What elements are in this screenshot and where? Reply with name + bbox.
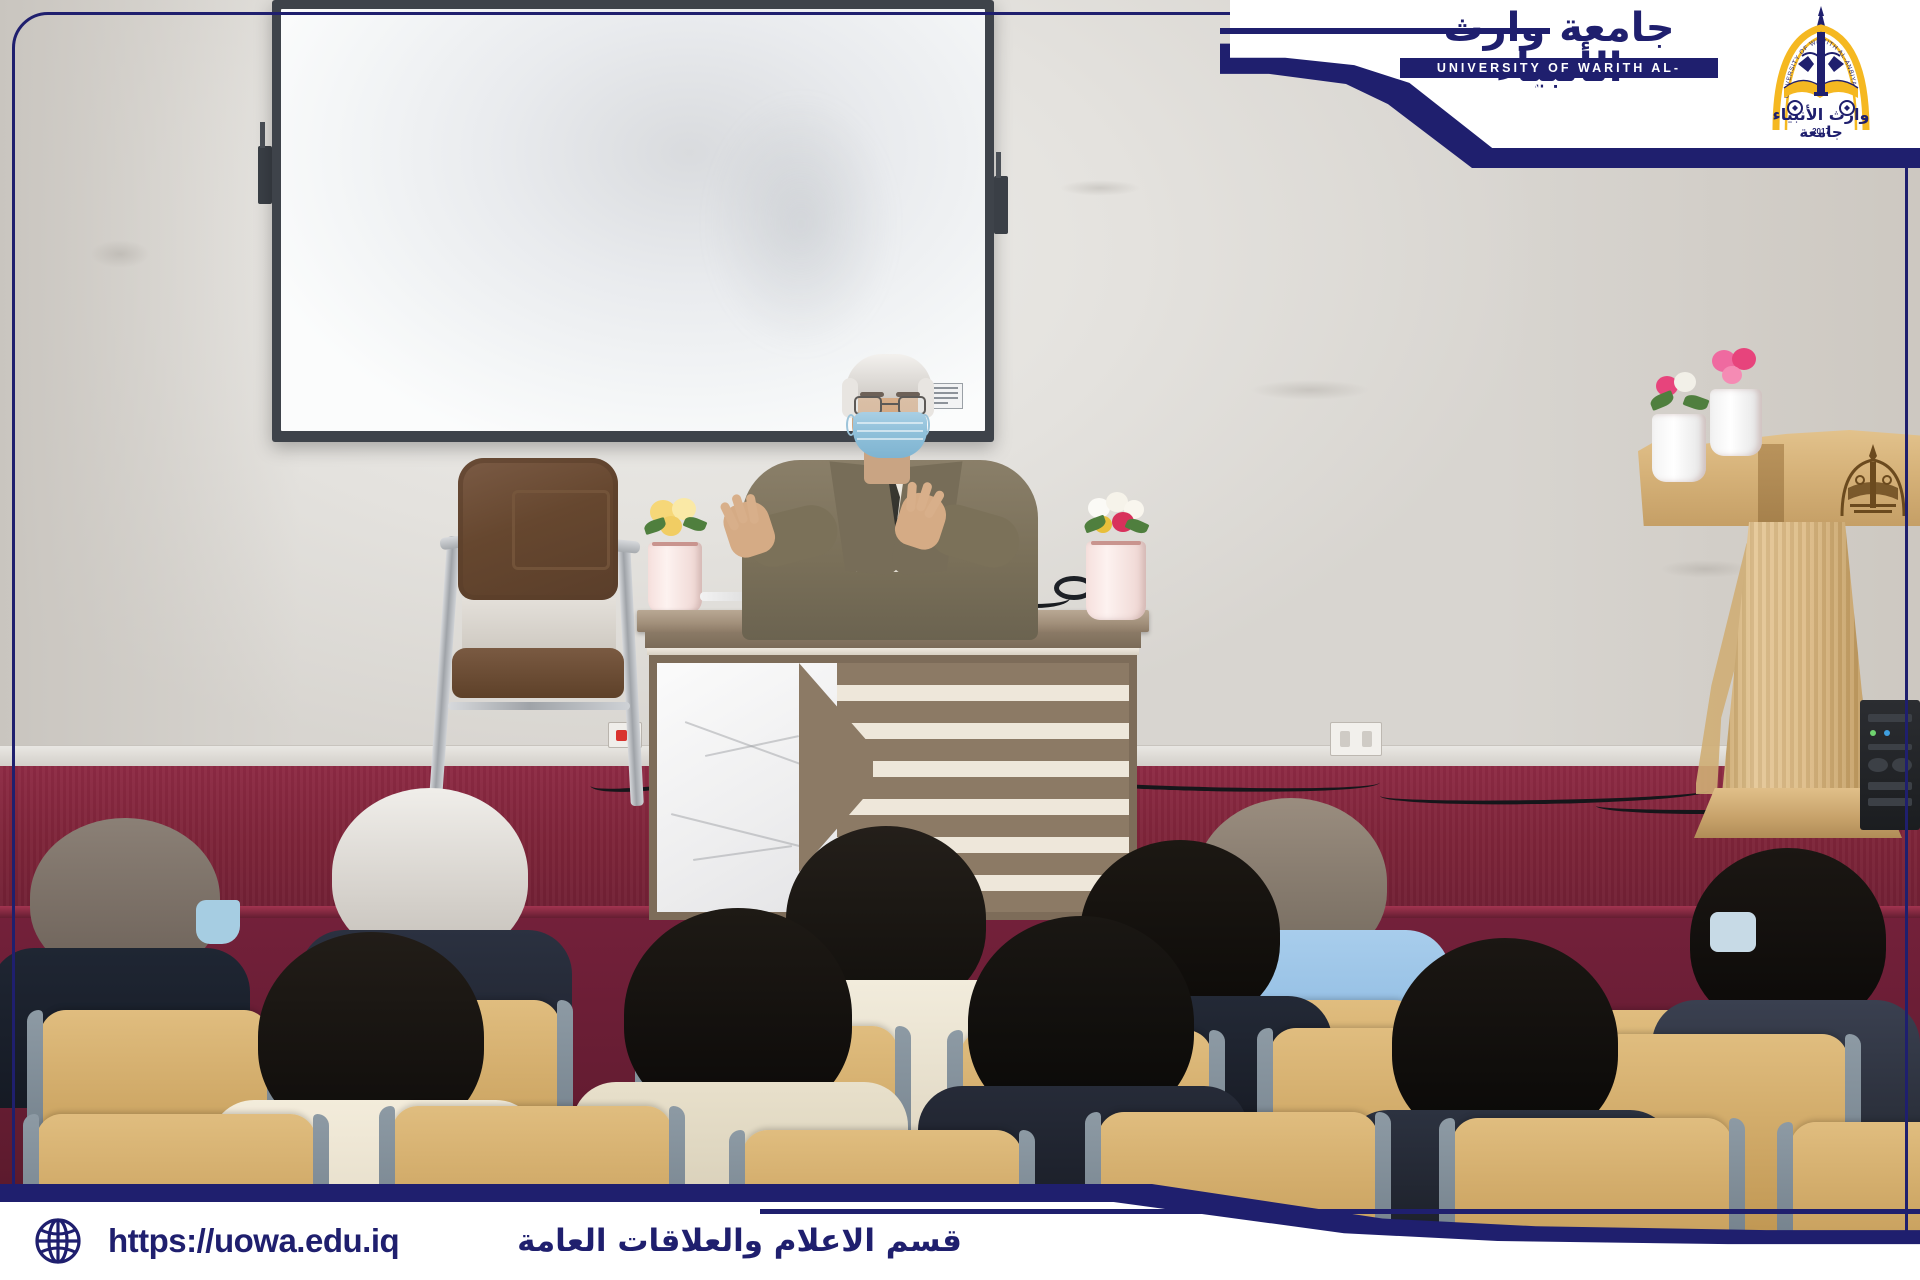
globe-icon [34, 1217, 82, 1265]
face-mask [853, 412, 927, 458]
flower-vase-left [648, 498, 702, 614]
vase-body [648, 542, 702, 614]
whiteboard-bracket-right [994, 176, 1008, 234]
chair-crossbar [448, 702, 630, 710]
leather-chair [434, 452, 644, 802]
department-label-arabic: قسم الاعلام والعلاقات العامة [517, 1223, 962, 1259]
flower-vase-desk-right [1086, 492, 1146, 620]
wall-scuff-2 [1250, 380, 1370, 400]
chair-seat [452, 648, 624, 698]
lectern-engraved-emblem-icon [1830, 440, 1916, 524]
whiteboard-smudge [711, 99, 891, 349]
flower-vase-podium-b [1710, 348, 1762, 456]
footer-content: https://uowa.edu.iq قسم الاعلام والعلاقا… [0, 1202, 1920, 1280]
chair-gap [462, 598, 616, 650]
website-url[interactable]: https://uowa.edu.iq [108, 1222, 399, 1260]
attendee-mask [1710, 912, 1756, 952]
leaf [1648, 390, 1675, 411]
attendee-mask [196, 900, 240, 944]
wall-scuff-1 [90, 240, 150, 268]
wall-shadow-left [0, 0, 300, 810]
leaf [1683, 392, 1710, 412]
event-photograph: hp [0, 0, 1920, 1280]
footer-banner: https://uowa.edu.iq قسم الاعلام والعلاقا… [0, 1184, 1920, 1280]
wall-socket-right [1330, 722, 1382, 756]
vase-body [1652, 414, 1706, 482]
leaf [1125, 516, 1150, 536]
vase-body [1086, 541, 1146, 620]
vase-body [1710, 389, 1762, 456]
audio-rack [1860, 700, 1920, 830]
chair-back-panel [512, 490, 610, 570]
presenter [760, 352, 1020, 632]
bloom [1722, 366, 1742, 384]
poster-root: hp [0, 0, 1920, 1280]
desk-lip [647, 648, 1139, 655]
bloom [1674, 372, 1696, 392]
lectern-accent-stripe [1758, 444, 1784, 526]
whiteboard-bracket-left [258, 146, 272, 204]
chair-backrest [458, 458, 618, 600]
flower-vase-podium-a [1652, 372, 1706, 482]
wall-scuff-4 [1060, 180, 1140, 196]
